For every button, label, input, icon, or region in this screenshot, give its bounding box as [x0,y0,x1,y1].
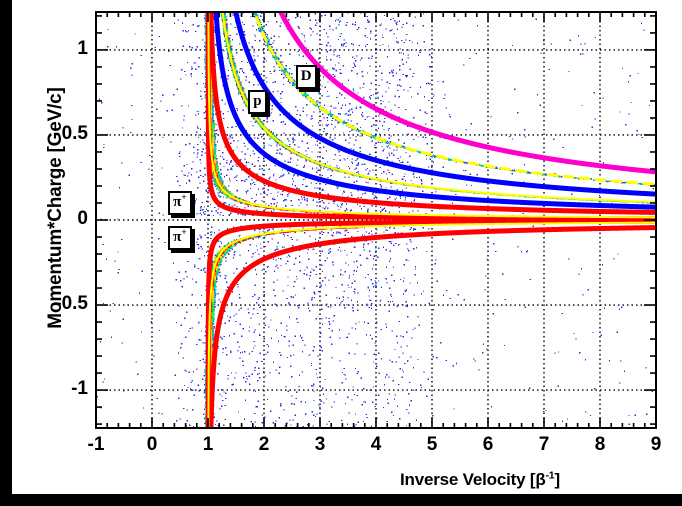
y-tick-label-neg1: -1 [30,378,88,400]
x-axis-beta-symbol: β [535,470,545,489]
x-tick-label-3: 3 [295,434,345,456]
x-tick-label-9: 9 [631,434,681,456]
proton-label-text: p [253,93,261,109]
plot-canvas [0,0,682,506]
x-axis-bracket-close: ] [554,470,559,489]
x-tick-label-2: 2 [239,434,289,456]
x-axis-title: Inverse Velocity [β-1] [400,470,560,490]
x-tick-label-neg1: -1 [71,434,121,456]
x-tick-label-4: 4 [351,434,401,456]
pion-positive-label-charge-sign: + [181,193,186,203]
x-axis-title-text: Inverse Velocity [ [400,470,535,489]
pion-negative-label-charge-sign: + [181,228,186,238]
pion-negative-label: π+ [168,226,192,250]
x-tick-label-5: 5 [407,434,457,456]
y-axis-title: Momentum*Charge [GeV/c] [45,48,67,368]
deuteron-label: D [296,65,317,89]
deuteron-label-text: D [301,68,312,84]
particle-identification-plot: -1012345678910.50-0.5-1 Momentum*Charge … [0,0,682,506]
x-tick-label-1: 1 [183,434,233,456]
x-tick-label-0: 0 [127,434,177,456]
x-tick-label-8: 8 [575,434,625,456]
x-tick-label-6: 6 [463,434,513,456]
x-tick-label-7: 7 [519,434,569,456]
pion-positive-label: π+ [168,191,192,215]
proton-label: p [248,90,266,114]
